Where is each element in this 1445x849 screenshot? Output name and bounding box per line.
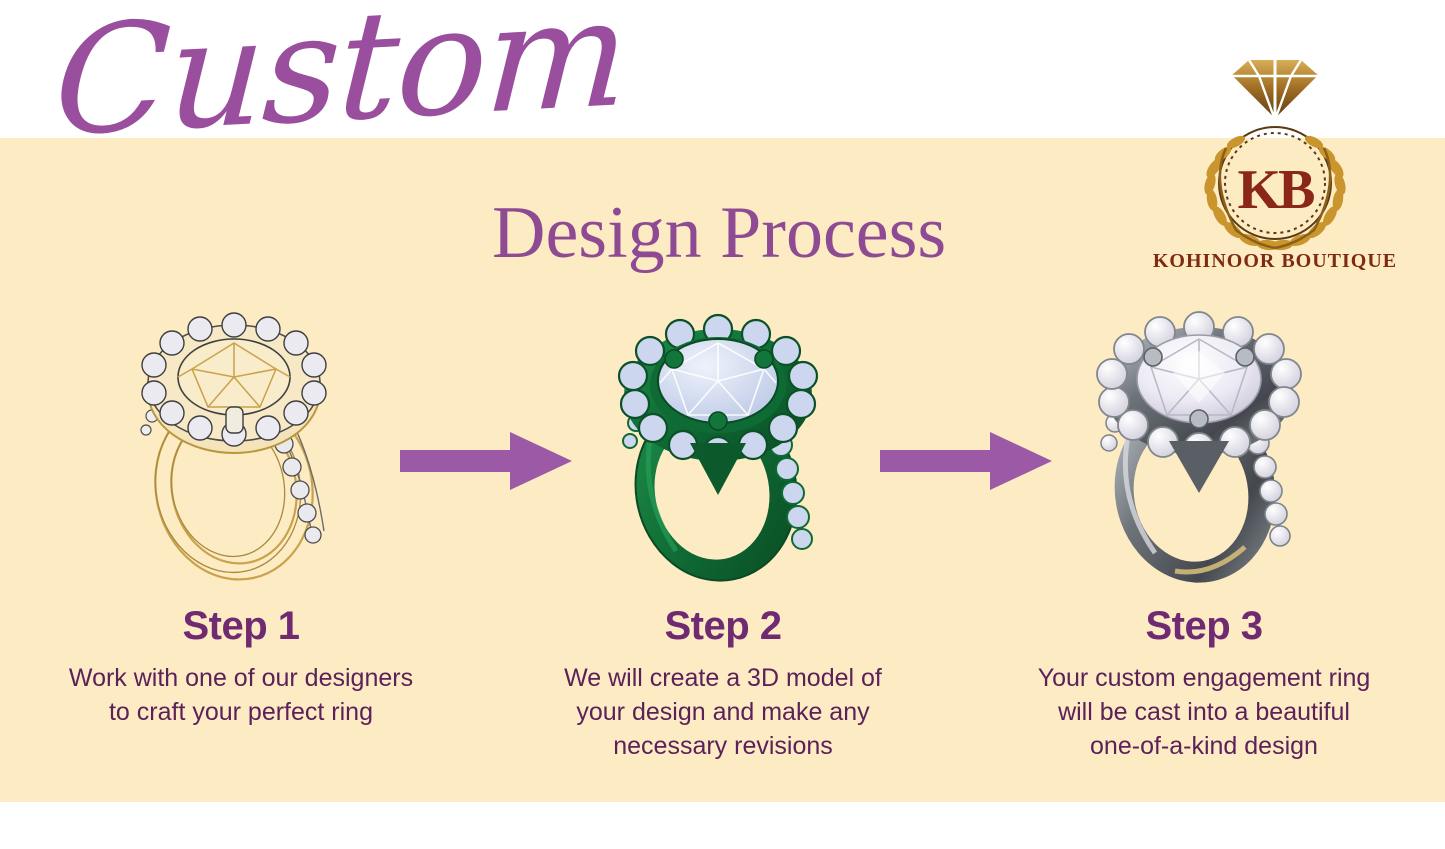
step-title: Step 1 (182, 606, 299, 646)
step-column-1: Step 1 Work with one of our designers to… (0, 300, 482, 800)
steps-row: Step 1 Work with one of our designers to… (0, 300, 1445, 800)
infographic-canvas: Custom Design Process (0, 0, 1445, 849)
ring-sketch-illustration (111, 300, 371, 590)
step-title: Step 3 (1145, 606, 1262, 646)
arrow-right-icon (880, 432, 1052, 490)
step-title: Step 2 (664, 606, 781, 646)
step-description: Your custom engagement ring will be cast… (974, 662, 1434, 763)
arrow-step2-to-step3 (880, 432, 1052, 490)
brand-logo[interactable]: KB KOHINOOR BOUTIQUE (1150, 52, 1400, 282)
page-title-script: Custom (51, 0, 630, 158)
step-column-2: Step 2 We will create a 3D model of your… (482, 300, 964, 800)
ring-3d-cad-model (593, 300, 853, 590)
step-column-3: Step 3 Your custom engagement ring will … (963, 300, 1445, 800)
arrow-right-icon (400, 432, 572, 490)
logo-monogram: KB (1238, 162, 1313, 218)
logo-brand-name: KOHINOOR BOUTIQUE (1153, 250, 1397, 273)
arrow-step1-to-step2 (400, 432, 572, 490)
ring-finished-photo (1074, 300, 1334, 590)
page-subtitle-serif: Design Process (492, 196, 946, 270)
step-description: We will create a 3D model of your design… (493, 662, 953, 763)
step-description: Work with one of our designers to craft … (11, 662, 471, 730)
